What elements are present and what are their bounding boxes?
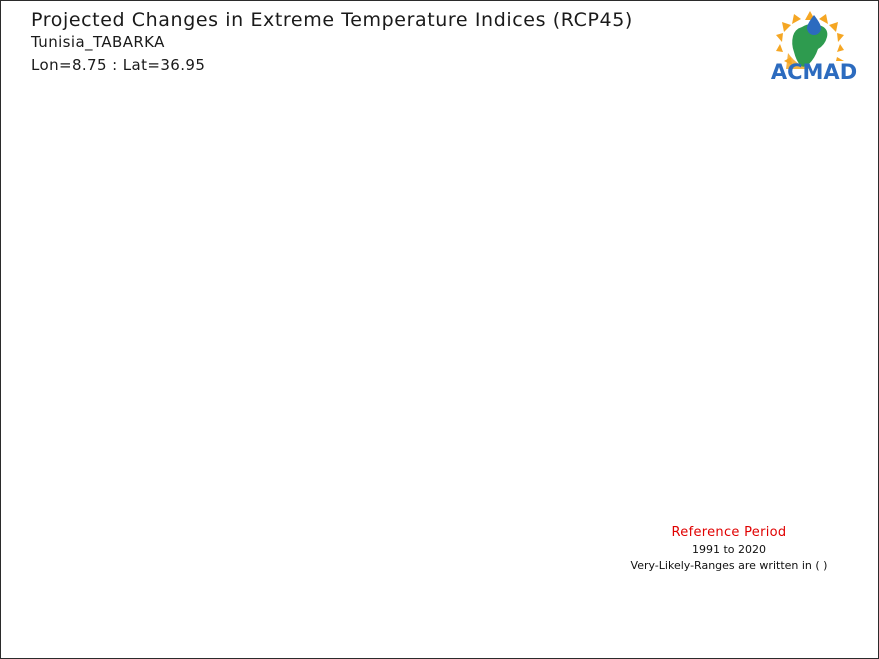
figure-canvas: Projected Changes in Extreme Temperature… [1, 1, 878, 658]
acmad-logo-graphic: ACMAD [758, 5, 870, 85]
station-name: Tunisia_TABARKA [31, 33, 165, 51]
acmad-logo: ACMAD [758, 5, 870, 85]
acmad-logo-text: ACMAD [771, 60, 857, 84]
reference-period-block: Reference Period 1991 to 2020 Very-Likel… [593, 525, 865, 572]
reference-period-title: Reference Period [593, 525, 865, 540]
reference-period-years: 1991 to 2020 [593, 543, 865, 556]
page-title: Projected Changes in Extreme Temperature… [31, 9, 633, 31]
station-coordinates: Lon=8.75 : Lat=36.95 [31, 56, 205, 74]
reference-period-note: Very-Likely-Ranges are written in ( ) [593, 559, 865, 572]
